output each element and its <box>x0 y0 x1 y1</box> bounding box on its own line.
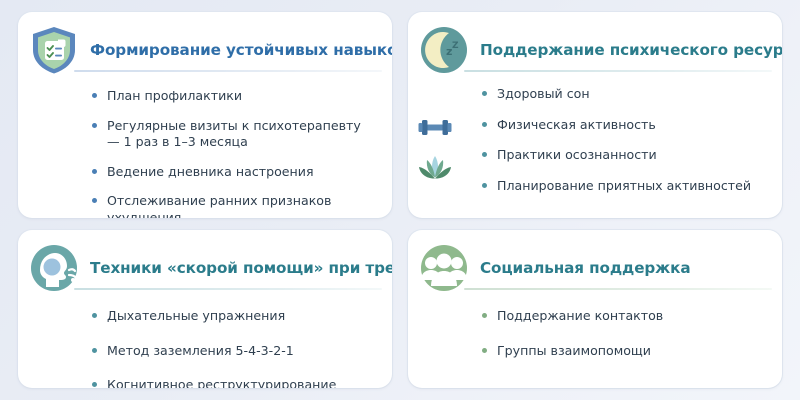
dumbbell-icon <box>416 112 454 144</box>
list-item: Физическая активность <box>480 117 766 134</box>
list-item: Здоровый сон <box>480 86 766 103</box>
card-item-list: Здоровый сон Физическая активность Практ… <box>480 74 766 194</box>
title-divider <box>74 70 382 72</box>
svg-text:Z: Z <box>452 41 459 51</box>
card-title: Формирование устойчивых навыков <box>90 42 392 59</box>
list-item: План профилактики <box>90 88 376 105</box>
title-divider <box>464 288 772 290</box>
cards-board: Формирование устойчивых навыков План про… <box>0 0 800 400</box>
title-divider <box>74 288 382 290</box>
card-item-list: Поддержание контактов Группы взаимопомощ… <box>480 292 766 359</box>
list-item: Дыхательные упражнения <box>90 308 376 325</box>
card-item-list: Дыхательные упражнения Метод заземления … <box>90 292 376 388</box>
card-header: Формирование устойчивых навыков <box>90 28 376 74</box>
card-header: Техники «скорой помощи» при тревоге <box>90 246 376 292</box>
card-skills: Формирование устойчивых навыков План про… <box>18 12 392 218</box>
card-title: Социальная поддержка <box>480 260 691 277</box>
lotus-icon <box>416 152 454 184</box>
card-header: Поддержание психического ресурса <box>480 28 766 74</box>
card-title: Поддержание психического ресурса <box>480 42 782 59</box>
list-item: Группы взаимопомощи <box>480 343 766 360</box>
card-emergency-techniques: Техники «скорой помощи» при тревоге Дыха… <box>18 230 392 388</box>
list-item: Когнитивное реструктурирование <box>90 377 376 388</box>
card-item-list: План профилактики Регулярные визиты к пс… <box>90 74 376 218</box>
breathing-head-icon <box>28 242 80 294</box>
card-social-support: Социальная поддержка Поддержание контакт… <box>408 230 782 388</box>
list-item: Ведение дневника настроения <box>90 164 376 181</box>
card-title: Техники «скорой помощи» при тревоге <box>90 260 392 277</box>
shield-checklist-icon <box>28 24 80 76</box>
moon-sleep-icon: z Z <box>418 24 470 76</box>
list-item: Практики осознанности <box>480 147 766 164</box>
title-divider <box>464 70 772 72</box>
people-group-icon <box>418 242 470 294</box>
list-item: Метод заземления 5-4-3-2-1 <box>90 343 376 360</box>
card-header: Социальная поддержка <box>480 246 766 292</box>
card-mental-resource: z Z Поддержание психического ре <box>408 12 782 218</box>
list-item: Планирование приятных активностей <box>480 178 766 195</box>
list-item: Отслеживание ранних признаков ухудшения <box>90 193 376 218</box>
list-item: Регулярные визиты к психотерапевту — 1 р… <box>90 118 376 151</box>
list-item: Поддержание контактов <box>480 308 766 325</box>
